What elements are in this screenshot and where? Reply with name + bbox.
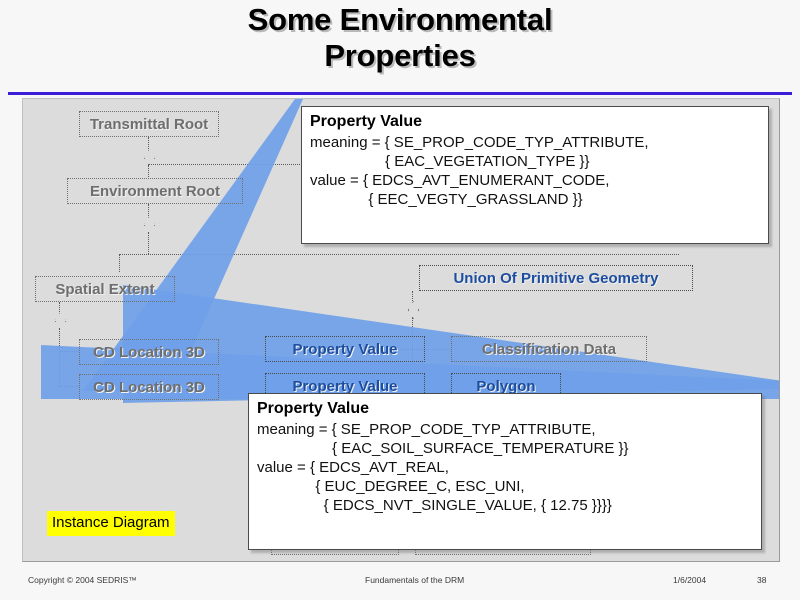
aggregation-diamond-3: [55, 312, 66, 330]
aggregation-diamond-4: [408, 301, 419, 319]
connector-union-to-diamond4: [412, 291, 413, 303]
node-cd-location-3d-1[interactable]: CD Location 3D: [79, 339, 219, 365]
callout-vegetation-title: Property Value: [310, 112, 760, 132]
connector-diamond2-down: [148, 232, 149, 254]
callout-vegetation-line-1: meaning = { SE_PROP_CODE_TYP_ATTRIBUTE,: [310, 133, 760, 152]
callout-vegetation-property-value: Property Value meaning = { SE_PROP_CODE_…: [301, 106, 769, 244]
connector-diamond1-to-environment: [148, 165, 149, 177]
callout-vegetation-line-4: { EEC_VEGTY_GRASSLAND }}: [310, 190, 760, 209]
connector-transmittal-to-diamond1: [148, 137, 149, 151]
slide-root: Some Environmental Properties: [0, 0, 800, 600]
callout-soil-line-4: { EUC_DEGREE_C, ESC_UNI,: [257, 477, 753, 496]
node-property-value-1[interactable]: Property Value: [265, 336, 425, 362]
node-union-of-primitive-geometry[interactable]: Union Of Primitive Geometry: [419, 265, 693, 291]
callout-soil-line-3: value = { EDCS_AVT_REAL,: [257, 458, 753, 477]
node-classification-data[interactable]: Classification Data: [451, 336, 647, 362]
connector-environment-to-diamond2: [148, 204, 149, 218]
connector-branch-to-spatial: [119, 254, 120, 272]
footer-date: 1/6/2004: [673, 575, 706, 585]
callout-soil-line-5: { EDCS_NVT_SINGLE_VALUE, { 12.75 }}}}: [257, 496, 753, 515]
aggregation-diamond-2: [144, 216, 155, 234]
callout-soil-line-1: meaning = { SE_PROP_CODE_TYP_ATTRIBUTE,: [257, 420, 753, 439]
footer-center-text: Fundamentals of the DRM: [365, 575, 464, 585]
node-environment-root[interactable]: Environment Root: [67, 178, 243, 204]
connector-spatial-to-diamond3: [59, 302, 60, 314]
callout-vegetation-line-3: value = { EDCS_AVT_ENUMERANT_CODE,: [310, 171, 760, 190]
instance-diagram-label: Instance Diagram: [47, 511, 175, 536]
callout-vegetation-line-2: { EAC_VEGETATION_TYPE }}: [310, 152, 760, 171]
callout-soil-temperature-property-value: Property Value meaning = { SE_PROP_CODE_…: [248, 393, 762, 550]
node-cd-location-3d-2[interactable]: CD Location 3D: [79, 374, 219, 400]
page-title: Some Environmental Properties: [0, 2, 800, 74]
callout-soil-line-2: { EAC_SOIL_SURFACE_TEMPERATURE }}: [257, 439, 753, 458]
node-spatial-extent[interactable]: Spatial Extent: [35, 276, 175, 302]
title-divider: [8, 92, 792, 95]
footer-page-number: 38: [757, 575, 766, 585]
footer-copyright: Copyright © 2004 SEDRIS™: [28, 575, 137, 585]
node-transmittal-root[interactable]: Transmittal Root: [79, 111, 219, 137]
callout-soil-title: Property Value: [257, 399, 753, 419]
